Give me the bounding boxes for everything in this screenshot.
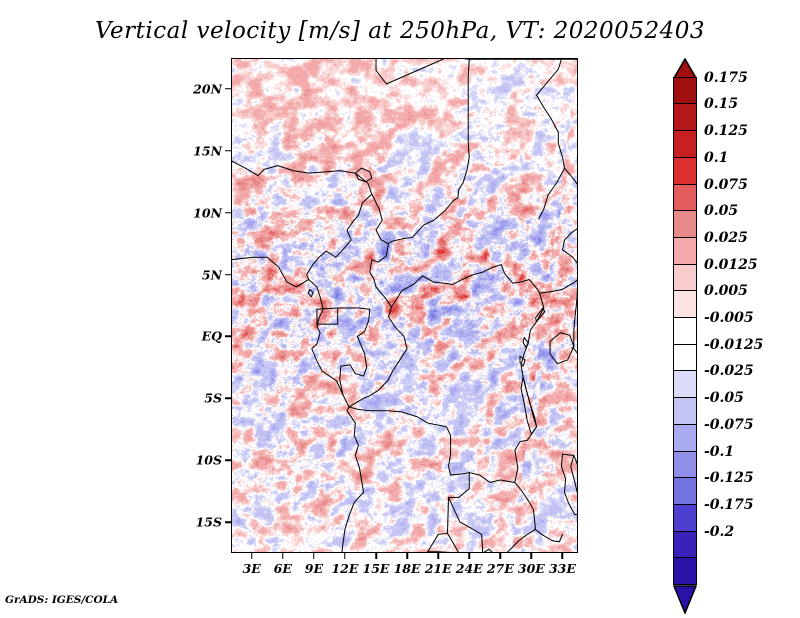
y-axis-tick-mark	[225, 150, 231, 152]
colorbar-label: -0.025	[704, 363, 754, 379]
page-title: Vertical velocity [m/s] at 250hPa, VT: 2…	[0, 18, 800, 44]
colorbar-label: 0.125	[704, 123, 748, 139]
colorbar-band: 0.1	[673, 157, 697, 185]
x-axis-tick-label: 12E	[331, 561, 358, 576]
map-plot-area: 20N15N10N5NEQ5S10S15S 3E6E9E12E15E18E21E…	[231, 58, 578, 553]
colorbar-band: -0.1	[673, 451, 697, 479]
x-axis-tick-label: 21E	[425, 561, 452, 576]
colorbar-label: 0.025	[704, 230, 748, 246]
x-axis-tick-label: 6E	[274, 561, 292, 576]
colorbar-band: 0.15	[673, 103, 697, 131]
colorbar-label: 0.1	[704, 150, 728, 166]
y-axis-tick-mark	[225, 88, 231, 90]
colorbar-label: 0.15	[704, 96, 738, 112]
x-axis-tick-mark	[313, 553, 315, 559]
vertical-velocity-heatmap	[231, 58, 578, 553]
y-axis-tick-mark	[225, 274, 231, 276]
colorbar-label: -0.125	[704, 470, 754, 486]
colorbar-label: -0.075	[704, 417, 754, 433]
x-axis-tick-label: 3E	[243, 561, 261, 576]
colorbar-band	[673, 557, 697, 585]
x-axis-tick-mark	[282, 553, 284, 559]
x-axis-tick-label: 18E	[394, 561, 421, 576]
colorbar-band: 0.125	[673, 130, 697, 158]
colorbar-band: -0.175	[673, 504, 697, 532]
colorbar-band: -0.075	[673, 424, 697, 452]
x-axis-tick-mark	[251, 553, 253, 559]
x-axis-tick-mark	[406, 553, 408, 559]
x-axis-tick-mark	[468, 553, 470, 559]
x-axis-tick-mark	[344, 553, 346, 559]
colorbar-band: 0.05	[673, 210, 697, 238]
colorbar-band: -0.125	[673, 477, 697, 505]
colorbar-label: -0.0125	[704, 337, 763, 353]
colorbar-label: 0.05	[704, 203, 738, 219]
y-axis-tick-mark	[225, 212, 231, 214]
x-axis-tick-mark	[375, 553, 377, 559]
x-axis-tick-mark	[531, 553, 533, 559]
x-axis-tick-label: 30E	[518, 561, 545, 576]
x-axis-tick-mark	[500, 553, 502, 559]
y-axis-tick-mark	[225, 521, 231, 523]
colorbar-band: 0.075	[673, 184, 697, 212]
colorbar: 0.1750.150.1250.10.0750.050.0250.01250.0…	[673, 78, 697, 585]
x-axis-tick-label: 27E	[487, 561, 514, 576]
colorbar-band: -0.2	[673, 531, 697, 559]
x-axis-tick-mark	[562, 553, 564, 559]
colorbar-label: 0.0125	[704, 257, 758, 273]
colorbar-band: 0.0125	[673, 264, 697, 292]
colorbar-band: 0.025	[673, 237, 697, 265]
y-axis-tick-mark	[225, 336, 231, 338]
colorbar-label: 0.005	[704, 283, 748, 299]
y-axis-tick-mark	[225, 459, 231, 461]
colorbar-label: 0.175	[704, 70, 748, 86]
footer-credit: GrADS: IGES/COLA	[5, 594, 118, 606]
x-axis-tick-mark	[437, 553, 439, 559]
colorbar-label: -0.2	[704, 524, 734, 540]
x-axis-tick-label: 15E	[363, 561, 390, 576]
colorbar-label: -0.1	[704, 444, 734, 460]
x-axis-tick-label: 33E	[549, 561, 576, 576]
x-axis-tick-label: 9E	[305, 561, 323, 576]
colorbar-band: -0.0125	[673, 344, 697, 372]
colorbar-label: -0.05	[704, 390, 744, 406]
x-axis-tick-label: 24E	[456, 561, 483, 576]
colorbar-band: 0.005	[673, 290, 697, 318]
colorbar-label: -0.005	[704, 310, 754, 326]
colorbar-band: 0.175	[673, 77, 697, 105]
colorbar-band: -0.005	[673, 317, 697, 345]
y-axis-tick-mark	[225, 398, 231, 400]
colorbar-band: -0.05	[673, 397, 697, 425]
colorbar-arrow-bottom	[673, 585, 697, 614]
colorbar-label: 0.075	[704, 177, 748, 193]
colorbar-label: -0.175	[704, 497, 754, 513]
colorbar-band: -0.025	[673, 370, 697, 398]
